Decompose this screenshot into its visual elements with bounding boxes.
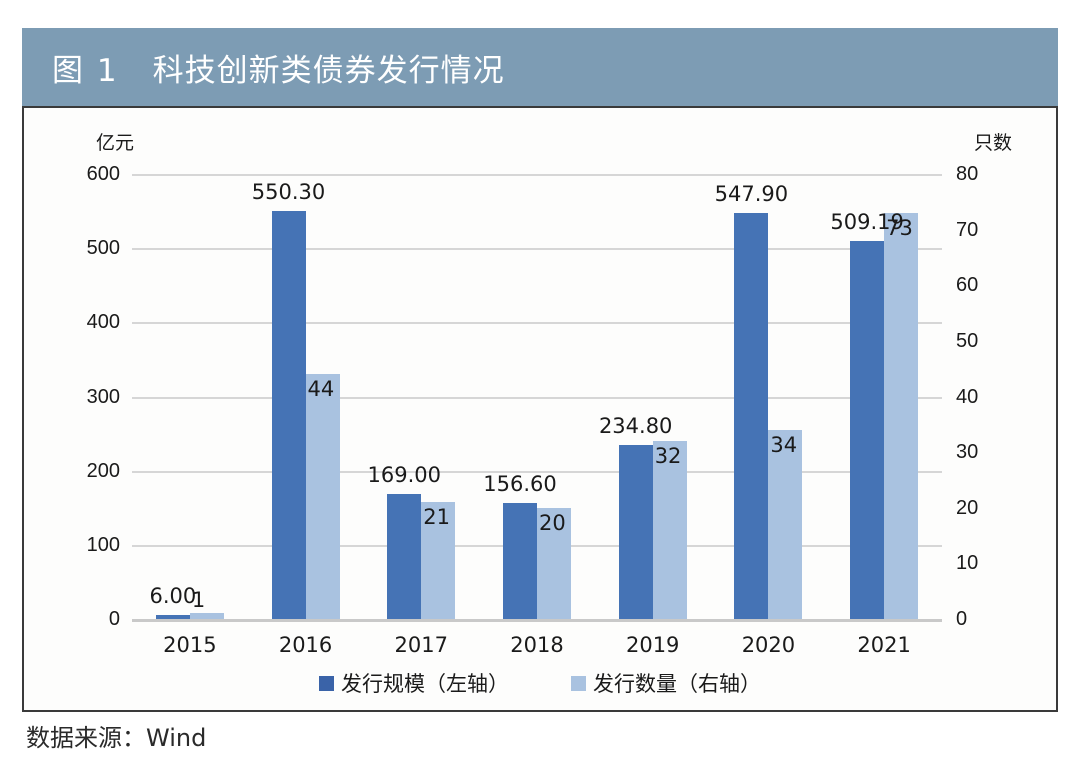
x-tick-label: 2017 bbox=[363, 633, 479, 657]
bar-group: 156.60202018 bbox=[479, 174, 595, 619]
bar-group: 550.30442016 bbox=[248, 174, 364, 619]
chart-card: 亿元 只数 0100200300400500600 01020304050607… bbox=[22, 106, 1058, 712]
bar-value-label-count: 44 bbox=[308, 379, 335, 400]
bar-issuance-scale[interactable] bbox=[387, 494, 421, 619]
y-tick-right: 30 bbox=[956, 442, 978, 462]
bar-issuance-count[interactable] bbox=[768, 430, 802, 619]
y-tick-left: 600 bbox=[87, 164, 120, 184]
y-tick-right: 10 bbox=[956, 553, 978, 573]
bar-value-label-scale: 547.90 bbox=[712, 184, 790, 205]
bar-value-label-count: 34 bbox=[770, 435, 797, 456]
y-tick-right: 70 bbox=[956, 220, 978, 240]
bar-value-label-scale: 234.80 bbox=[597, 416, 675, 437]
legend-item-primary[interactable]: 发行规模（左轴） bbox=[319, 668, 509, 698]
x-tick-label: 2018 bbox=[479, 633, 595, 657]
x-tick-label: 2019 bbox=[595, 633, 711, 657]
bar-value-label-count: 1 bbox=[192, 590, 205, 611]
bar-group: 169.00212017 bbox=[363, 174, 479, 619]
x-tick-label: 2015 bbox=[132, 633, 248, 657]
bar-value-label-scale: 169.00 bbox=[365, 465, 443, 486]
y-tick-left: 200 bbox=[87, 461, 120, 481]
plot-area: 0100200300400500600 01020304050607080 6.… bbox=[132, 174, 942, 619]
bar-value-label-count: 73 bbox=[886, 218, 913, 239]
figure-number: 图 1 bbox=[52, 45, 119, 90]
legend-label-primary: 发行规模（左轴） bbox=[341, 668, 509, 698]
bar-value-label-scale: 550.30 bbox=[250, 182, 328, 203]
y-tick-left: 500 bbox=[87, 238, 120, 258]
y-axis-right-title: 只数 bbox=[974, 128, 1012, 155]
y-tick-right: 20 bbox=[956, 498, 978, 518]
legend-swatch-primary-icon bbox=[319, 676, 334, 691]
chart-legend: 发行规模（左轴） 发行数量（右轴） bbox=[24, 668, 1056, 698]
bar-value-label-count: 21 bbox=[423, 507, 450, 528]
legend-swatch-secondary-icon bbox=[571, 676, 586, 691]
bar-issuance-scale[interactable] bbox=[734, 213, 768, 619]
bar-issuance-scale[interactable] bbox=[272, 211, 306, 619]
figure-header: 图 1 科技创新类债券发行情况 bbox=[22, 28, 1058, 106]
source-note: 数据来源：Wind bbox=[26, 718, 206, 753]
bar-issuance-count[interactable] bbox=[190, 613, 224, 619]
gridline bbox=[132, 619, 942, 622]
y-tick-left: 400 bbox=[87, 312, 120, 332]
bar-value-label-count: 20 bbox=[539, 513, 566, 534]
bar-value-label-count: 32 bbox=[655, 446, 682, 467]
y-tick-right: 40 bbox=[956, 387, 978, 407]
bar-value-label-scale: 156.60 bbox=[481, 474, 559, 495]
x-tick-label: 2016 bbox=[248, 633, 364, 657]
bar-group: 6.0012015 bbox=[132, 174, 248, 619]
y-tick-left: 300 bbox=[87, 387, 120, 407]
x-tick-label: 2021 bbox=[826, 633, 942, 657]
bar-issuance-scale[interactable] bbox=[850, 241, 884, 619]
legend-item-secondary[interactable]: 发行数量（右轴） bbox=[571, 668, 761, 698]
y-tick-left: 0 bbox=[109, 609, 120, 629]
legend-label-secondary: 发行数量（右轴） bbox=[593, 668, 761, 698]
bar-group: 547.90342020 bbox=[711, 174, 827, 619]
y-tick-right: 80 bbox=[956, 164, 978, 184]
y-axis-left-title: 亿元 bbox=[96, 128, 134, 155]
bar-group: 234.80322019 bbox=[595, 174, 711, 619]
bar-issuance-scale[interactable] bbox=[156, 615, 190, 619]
figure-title: 科技创新类债券发行情况 bbox=[153, 45, 505, 90]
y-tick-left: 100 bbox=[87, 535, 120, 555]
bar-issuance-scale[interactable] bbox=[619, 445, 653, 619]
bar-group: 509.19732021 bbox=[826, 174, 942, 619]
bar-issuance-count[interactable] bbox=[306, 374, 340, 619]
bar-issuance-scale[interactable] bbox=[503, 503, 537, 619]
figure-page: 图 1 科技创新类债券发行情况 亿元 只数 010020030040050060… bbox=[0, 0, 1080, 759]
y-tick-right: 0 bbox=[956, 609, 967, 629]
bar-issuance-count[interactable] bbox=[884, 213, 918, 619]
y-tick-right: 60 bbox=[956, 275, 978, 295]
x-tick-label: 2020 bbox=[711, 633, 827, 657]
y-tick-right: 50 bbox=[956, 331, 978, 351]
